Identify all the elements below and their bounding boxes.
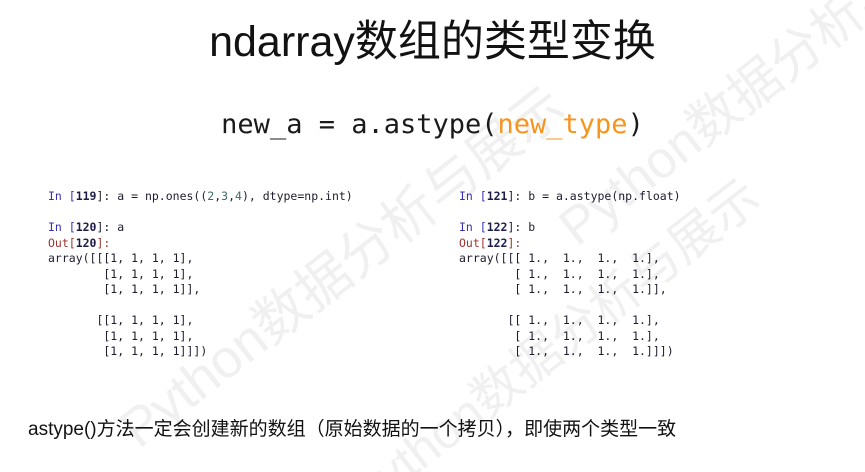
code-line: array([[[1, 1, 1, 1], <box>48 251 353 267</box>
code-token: array([[[ 1., 1., 1., 1.], <box>459 251 660 265</box>
code-line-blank <box>459 298 681 314</box>
code-line-blank <box>48 298 353 314</box>
code-line-blank <box>459 205 681 221</box>
code-line: Out[120]: <box>48 236 353 252</box>
code-line: In [121]: b = a.astype(np.float) <box>459 189 681 205</box>
code-token: [ 1., 1., 1., 1.], <box>459 329 660 343</box>
code-line: [1, 1, 1, 1]], <box>48 282 353 298</box>
code-line: array([[[ 1., 1., 1., 1.], <box>459 251 681 267</box>
code-token: ]: <box>96 236 110 250</box>
code-token: In [ <box>48 189 76 203</box>
code-line: [[ 1., 1., 1., 1.], <box>459 313 681 329</box>
code-line: [ 1., 1., 1., 1.]]]) <box>459 344 681 360</box>
code-token: array([[[1, 1, 1, 1], <box>48 251 193 265</box>
code-line: [1, 1, 1, 1], <box>48 267 353 283</box>
code-token: [[ 1., 1., 1., 1.], <box>459 313 660 327</box>
code-token: [ 1., 1., 1., 1.]], <box>459 282 667 296</box>
slide-caption: astype()方法一定会创建新的数组（原始数据的一个拷贝），即使两个类型一致 <box>28 415 848 445</box>
code-token: 120 <box>76 220 97 234</box>
code-token: In [ <box>459 189 487 203</box>
code-token: 120 <box>76 236 97 250</box>
code-block-right: In [121]: b = a.astype(np.float) In [122… <box>459 189 681 360</box>
code-line: [1, 1, 1, 1]]]) <box>48 344 353 360</box>
code-line-blank <box>48 205 353 221</box>
code-token: Out[ <box>48 236 76 250</box>
code-block-left: In [119]: a = np.ones((2,3,4), dtype=np.… <box>48 189 353 360</box>
code-line: In [119]: a = np.ones((2,3,4), dtype=np.… <box>48 189 353 205</box>
slide-title: ndarray数组的类型变换 <box>0 13 865 71</box>
code-token: [1, 1, 1, 1], <box>48 329 193 343</box>
code-token: 121 <box>487 189 508 203</box>
code-token: ]: b <box>507 220 535 234</box>
code-line: [ 1., 1., 1., 1.]], <box>459 282 681 298</box>
code-token: ]: <box>507 236 521 250</box>
code-token: Out[ <box>459 236 487 250</box>
formula-accent-token: new_type <box>498 109 628 140</box>
code-token: 119 <box>76 189 97 203</box>
code-token: [[1, 1, 1, 1], <box>48 313 193 327</box>
code-token: 122 <box>487 220 508 234</box>
code-token: In [ <box>48 220 76 234</box>
code-token: , <box>228 189 235 203</box>
formula-expression: new_a = a.astype(new_type) <box>0 105 865 145</box>
code-line: Out[122]: <box>459 236 681 252</box>
code-token: ]: b = a.astype(np.float) <box>507 189 680 203</box>
code-line: In [122]: b <box>459 220 681 236</box>
code-token: In [ <box>459 220 487 234</box>
code-token: [1, 1, 1, 1], <box>48 267 193 281</box>
code-line: [[1, 1, 1, 1], <box>48 313 353 329</box>
code-line: In [120]: a <box>48 220 353 236</box>
code-token: ), dtype=np.int) <box>242 189 353 203</box>
code-token: ]: a <box>96 220 124 234</box>
code-token: [1, 1, 1, 1]]]) <box>48 344 207 358</box>
code-line: [ 1., 1., 1., 1.], <box>459 267 681 283</box>
code-token: [ 1., 1., 1., 1.]]]) <box>459 344 674 358</box>
code-token: 4 <box>235 189 242 203</box>
code-token: [ 1., 1., 1., 1.], <box>459 267 660 281</box>
code-token: [1, 1, 1, 1]], <box>48 282 200 296</box>
formula-suffix: ) <box>628 109 644 140</box>
code-line: [1, 1, 1, 1], <box>48 329 353 345</box>
slide-canvas: Python数据分析与展示 Python数据分析与展示 Python数据分析与展… <box>0 0 865 472</box>
formula-prefix: new_a = a.astype( <box>221 109 497 140</box>
code-line: [ 1., 1., 1., 1.], <box>459 329 681 345</box>
code-token: ]: a = np.ones(( <box>96 189 207 203</box>
code-token: 122 <box>487 236 508 250</box>
